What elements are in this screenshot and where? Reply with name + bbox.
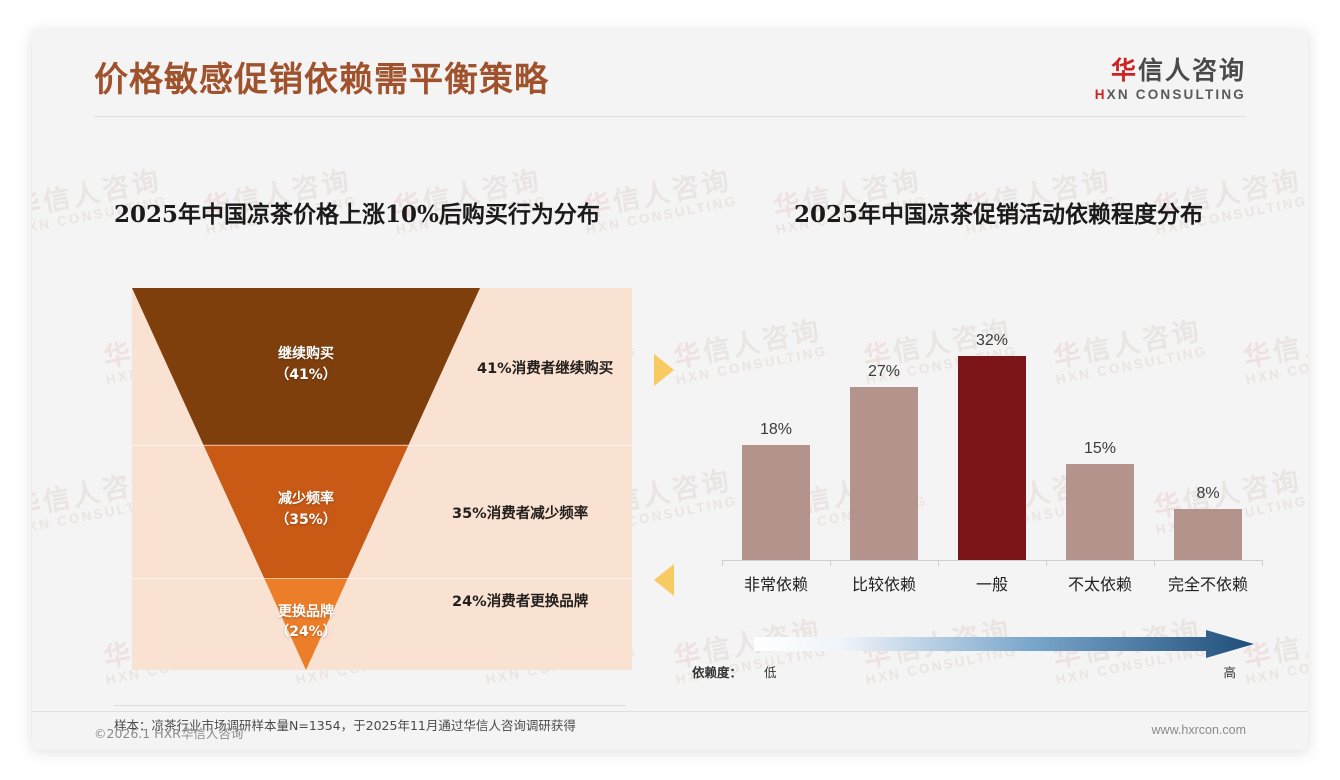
axis-tick [938, 560, 939, 566]
slide-footer: ©2026.1 HXR华信人咨询 www.hxrcon.com [32, 711, 1308, 750]
funnel-band-divider [132, 445, 632, 446]
scale-high-label: 高 [1223, 662, 1236, 681]
play-right-triangle-icon [654, 354, 674, 386]
funnel-segment-label: 继续购买（41%） [246, 344, 366, 385]
logo-english-red: H [1095, 87, 1107, 102]
axis-tick [1046, 560, 1047, 566]
funnel-segment-name: 减少频率 [278, 491, 334, 507]
funnel-segment-value: （41%） [275, 367, 337, 383]
brand-logo: 华信人咨询 HXN CONSULTING [1095, 57, 1246, 102]
bar-category-label: 非常依赖 [722, 571, 830, 595]
page-title: 价格敏感促销依赖需平衡策略 [94, 52, 549, 101]
funnel-segment-note: 24%消费者更换品牌 [452, 590, 588, 611]
funnel-segment-note: 35%消费者减少频率 [452, 502, 588, 523]
bar-column[interactable]: 8% [1154, 295, 1262, 560]
bar-chart-category-labels: 非常依赖比较依赖一般不太依赖完全不依赖 [722, 571, 1262, 595]
bar-value-label: 18% [760, 421, 792, 439]
bar-chart-ticks [722, 560, 1262, 566]
watermark-text: 华信人咨询HXN CONSULTING [579, 166, 739, 238]
bar-value-label: 8% [1196, 485, 1219, 503]
bar-category-label: 比较依赖 [830, 571, 938, 595]
bar-chart-plot: 18%27%32%15%8% [722, 295, 1262, 560]
bar-category-label: 完全不依赖 [1154, 571, 1262, 595]
scale-low-label: 低 [764, 662, 777, 681]
bar-category-label: 不太依赖 [1046, 571, 1154, 595]
bar-column[interactable]: 18% [722, 295, 830, 560]
slide-canvas: 华信人咨询HXN CONSULTING华信人咨询HXN CONSULTING华信… [32, 30, 1308, 750]
footer-website[interactable]: www.hxrcon.com [1152, 723, 1246, 737]
bar-chart: 18%27%32%15%8% 非常依赖比较依赖一般不太依赖完全不依赖 [692, 295, 1272, 595]
bar-rect[interactable] [1174, 509, 1242, 560]
funnel-band-divider [132, 578, 632, 579]
logo-chinese: 华信人咨询 [1095, 57, 1246, 85]
bar-column[interactable]: 27% [830, 295, 938, 560]
funnel-segment-value: （24%） [275, 624, 337, 640]
bar-column[interactable]: 15% [1046, 295, 1154, 560]
funnel-segment-label: 减少频率（35%） [246, 489, 366, 530]
axis-tick [722, 560, 723, 566]
gradient-arrow-shape [754, 630, 1254, 658]
right-chart-title: 2025年中国凉茶促销活动依赖程度分布 [794, 195, 1203, 229]
left-chart-title: 2025年中国凉茶价格上涨10%后购买行为分布 [114, 195, 600, 229]
scale-caption: 依赖度： [692, 662, 742, 681]
funnel-segment-label: 更换品牌（24%） [246, 602, 366, 643]
funnel-chart: 继续购买（41%）41%消费者继续购买减少频率（35%）35%消费者减少频率更换… [132, 288, 632, 670]
header-divider [94, 116, 1246, 117]
bar-value-label: 15% [1084, 440, 1116, 458]
bar-value-label: 27% [868, 363, 900, 381]
slide-header: 价格敏感促销依赖需平衡策略 华信人咨询 HXN CONSULTING [32, 30, 1308, 125]
logo-english: HXN CONSULTING [1095, 88, 1246, 103]
bar-rect[interactable] [850, 387, 918, 560]
bar-category-label: 一般 [938, 571, 1046, 595]
logo-chinese-red: 华 [1111, 56, 1138, 85]
logo-english-rest: XN CONSULTING [1107, 87, 1246, 102]
gradient-arrow-icon [754, 630, 1254, 660]
dependency-scale: 依赖度： 低 高 [692, 628, 1272, 688]
funnel-segment-value: （35%） [275, 512, 337, 528]
bar-rect[interactable] [1066, 464, 1134, 560]
funnel-segment-note: 41%消费者继续购买 [477, 357, 613, 378]
play-left-triangle-icon [654, 564, 674, 596]
funnel-segment-name: 继续购买 [278, 346, 334, 362]
funnel-shape [132, 288, 632, 670]
logo-chinese-rest: 信人咨询 [1138, 56, 1246, 85]
bar-column[interactable]: 32% [938, 295, 1046, 560]
axis-tick [1262, 560, 1263, 566]
bar-rect[interactable] [958, 356, 1026, 560]
axis-tick [1154, 560, 1155, 566]
bar-value-label: 32% [976, 332, 1008, 350]
funnel-segment-name: 更换品牌 [278, 604, 334, 620]
bar-rect[interactable] [742, 445, 810, 560]
axis-tick [830, 560, 831, 566]
footer-copyright: ©2026.1 HXR华信人咨询 [94, 723, 243, 742]
